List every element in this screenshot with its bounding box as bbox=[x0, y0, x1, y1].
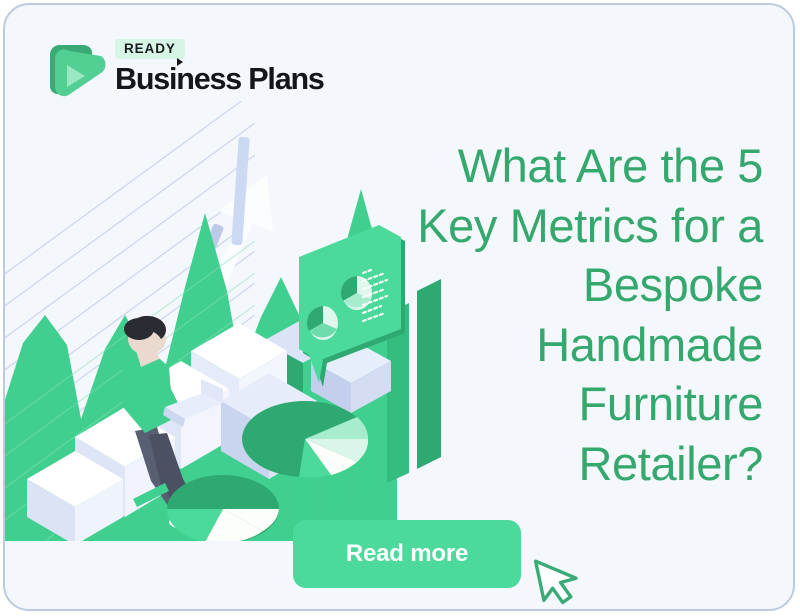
pie-chart-large bbox=[242, 401, 368, 477]
play-accent-icon bbox=[177, 58, 183, 66]
read-more-button[interactable]: Read more bbox=[293, 520, 521, 588]
brand-name-row: Business Plans bbox=[115, 62, 330, 96]
arrow-pointer-icon bbox=[533, 551, 589, 609]
logo[interactable]: READY Business Plans bbox=[33, 29, 333, 111]
page-title: What Are the 5 Key Metrics for a Bespoke… bbox=[393, 136, 763, 493]
logo-text: READY Business Plans bbox=[115, 39, 330, 96]
promo-card: READY Business Plans What Are the 5 Key … bbox=[3, 3, 795, 611]
brand-name: Business Plans bbox=[115, 62, 324, 96]
pie-chart-small bbox=[167, 475, 279, 541]
illustration bbox=[5, 101, 445, 541]
ready-badge: READY bbox=[115, 39, 185, 59]
play-mark-icon bbox=[33, 31, 113, 111]
